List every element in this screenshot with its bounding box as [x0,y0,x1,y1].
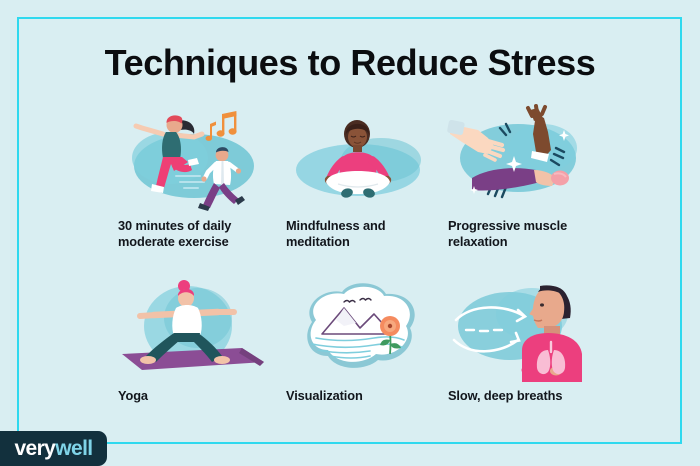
technique-card-exercise: 30 minutes of daily moderate exercise [118,108,268,251]
technique-caption-yoga: Yoga [118,388,268,404]
technique-caption-mindfulness: Mindfulness and meditation [286,218,436,251]
infographic-canvas: Techniques to Reduce Stress [0,0,700,466]
logo-text-very: very [14,437,55,460]
technique-card-mindfulness: Mindfulness and meditation [286,108,436,251]
yoga-illustration [118,278,268,382]
technique-caption-exercise: 30 minutes of daily moderate exercise [118,218,268,251]
technique-caption-visualization: Visualization [286,388,436,404]
technique-card-muscle-relaxation: Progressive muscle relaxation [448,108,598,251]
technique-caption-breathing: Slow, deep breaths [448,388,598,404]
technique-card-visualization: Visualization [286,278,436,404]
technique-card-yoga: Yoga [118,278,268,404]
technique-card-breathing: Slow, deep breaths [448,278,598,404]
breathing-illustration [448,278,598,382]
exercise-illustration [118,108,268,212]
mindfulness-illustration [286,108,436,212]
page-title: Techniques to Reduce Stress [0,42,700,84]
logo-text-well: well [55,437,92,460]
music-note-icon [206,111,237,141]
technique-caption-muscle-relaxation: Progressive muscle relaxation [448,218,598,251]
airflow-dashes [466,330,502,331]
verywell-logo[interactable]: verywell [0,431,107,466]
visualization-illustration [286,278,436,382]
muscle-relaxation-illustration [448,108,598,212]
